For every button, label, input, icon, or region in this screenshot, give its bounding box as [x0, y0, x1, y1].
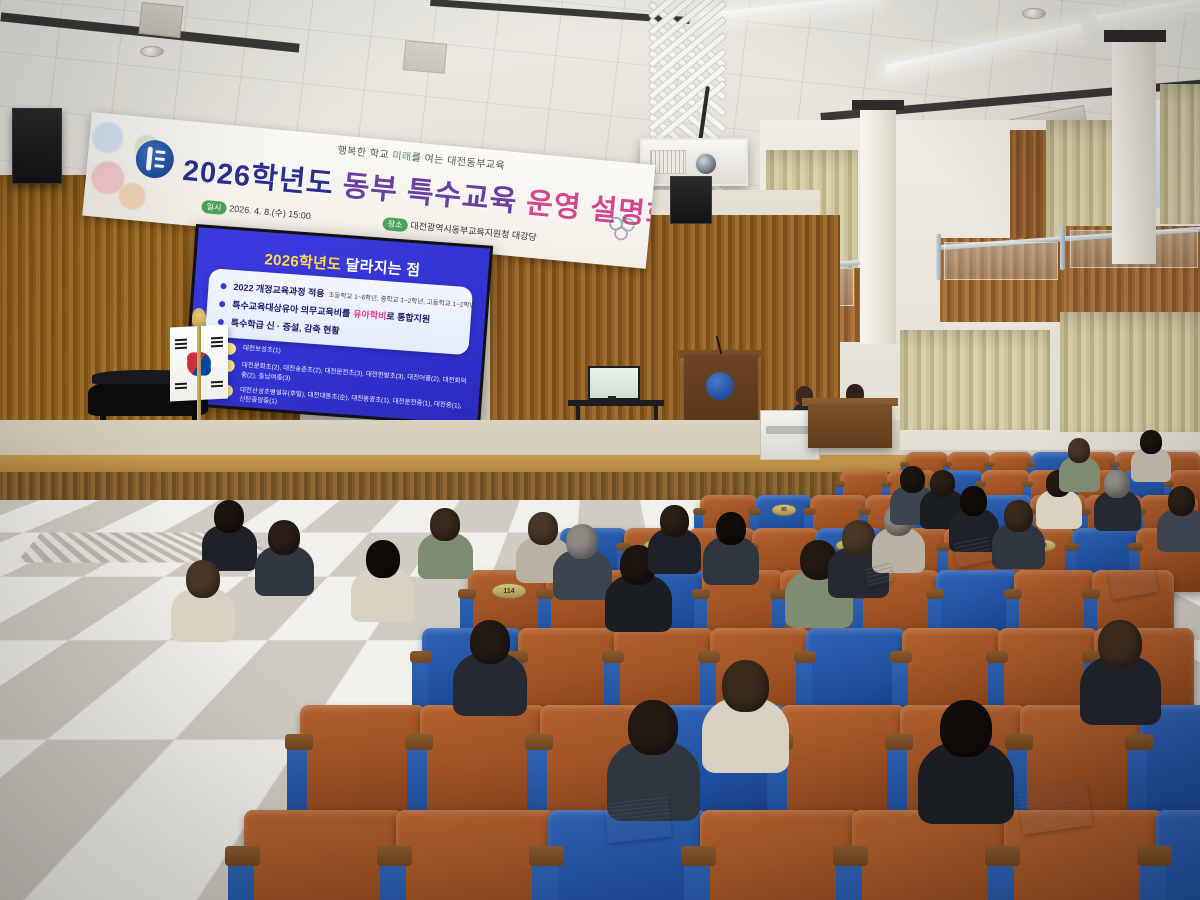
- seat-armrest: [692, 589, 710, 599]
- banner-title-subject: 동부 특수교육: [341, 170, 518, 218]
- bullet-1-main: 2022 개정교육과정 적용: [233, 280, 325, 300]
- attendee-head: [722, 660, 769, 712]
- banner-place-chip: 장소: [382, 217, 408, 232]
- bullet-3-main: 특수학급 신 · 증설, 감축 현황: [230, 316, 340, 337]
- bullet-dot-icon: [219, 300, 225, 306]
- bullet-2-post: 로 통합지원: [386, 309, 431, 325]
- podium-education-seal-icon: [706, 372, 734, 400]
- attendee-head: [900, 466, 925, 493]
- bullet-dot-icon: [220, 282, 226, 288]
- seat-armrest: [890, 651, 912, 663]
- seat-armrest: [314, 651, 336, 663]
- ceiling-vent-1: [138, 2, 183, 38]
- structural-column-right: [1112, 34, 1156, 264]
- white-tumbler: [140, 660, 158, 694]
- slide-title-year: 2026학년도: [264, 251, 342, 274]
- projection-screen: 2026학년도 달라지는 점 2022 개정교육과정 적용 초등학교 1~6학년…: [183, 224, 494, 427]
- seat-armrest: [1064, 543, 1079, 551]
- cart-slot: [766, 426, 812, 434]
- attendee-head: [1004, 500, 1033, 532]
- auditorium-seat[interactable]: [1156, 810, 1200, 900]
- ceiling-downlight-2: [1022, 8, 1046, 19]
- bullet-2-highlight: 유아학비: [353, 307, 387, 322]
- seat-armrest: [73, 846, 108, 866]
- seat-armrest: [942, 462, 952, 467]
- attendee-head: [186, 560, 220, 598]
- balcony-railing-post-1: [936, 234, 941, 280]
- seat-armrest: [748, 508, 761, 515]
- seat-armrest: [984, 462, 994, 467]
- mobile-lectern: [808, 404, 892, 448]
- monitor-screen: [590, 368, 638, 398]
- seat-armrest: [1082, 589, 1100, 599]
- seat-armrest: [1026, 462, 1036, 467]
- projector-scissor-lift: [648, 0, 734, 150]
- seat-armrest: [405, 734, 433, 750]
- attendee-head: [716, 512, 746, 545]
- seat-armrest: [1005, 734, 1033, 750]
- balcony-railing-post-2: [1060, 226, 1065, 270]
- attendee-head: [842, 520, 875, 556]
- structural-column-left: [860, 104, 896, 344]
- seat-armrest: [377, 846, 412, 866]
- attendee-head: [930, 470, 955, 497]
- lower-curtain-right: [1060, 312, 1200, 432]
- seat-armrest: [1128, 543, 1143, 551]
- auditorium-photo: 행복한 학교 미래를 여는 대전동부교육 2026학년도 동부 특수교육 운영 …: [0, 0, 1200, 900]
- banner-date-value: 2026. 4. 8.(수) 15:00: [229, 203, 311, 221]
- seat-armrest: [225, 846, 260, 866]
- seat-armrest: [833, 846, 868, 866]
- balcony-curtain-right: [1160, 84, 1200, 224]
- projector-lens: [694, 152, 718, 176]
- seat-armrest: [458, 589, 476, 599]
- banner-slogan-part2: 미래: [392, 150, 412, 163]
- olympic-rings-logo-icon: [604, 211, 641, 248]
- seat-armrest: [881, 481, 892, 487]
- slide-title-rest: 달라지는 점: [345, 257, 421, 279]
- attendee-head: [528, 512, 558, 545]
- ceiling-downlight-1: [140, 46, 164, 57]
- banner-title-year: 2026학년도: [181, 155, 335, 201]
- banner-date-chip: 일시: [201, 200, 227, 215]
- attendee-head: [660, 505, 689, 537]
- attendee-head: [470, 620, 510, 664]
- printed-handout: [604, 797, 672, 843]
- ceiling-vent-2: [403, 40, 447, 74]
- seat-armrest: [985, 846, 1020, 866]
- seat-armrest: [1110, 462, 1120, 467]
- seat-armrest: [698, 651, 720, 663]
- balcony-railing-glass-2: [944, 242, 1058, 280]
- flag-pole: [197, 318, 201, 436]
- attendee-head: [566, 524, 598, 559]
- seat-armrest: [858, 508, 871, 515]
- seat-armrest: [681, 846, 716, 866]
- attendee-head: [214, 500, 244, 533]
- confidence-monitor: [588, 366, 640, 400]
- attendee-head: [1168, 486, 1195, 516]
- banner-slogan-part1: 행복한 학교: [337, 145, 390, 161]
- seat-number-plate: 114: [492, 583, 527, 599]
- seat-armrest: [885, 734, 913, 750]
- row-text-new: 대전보성초(1): [243, 344, 281, 356]
- seat-armrest: [45, 734, 73, 750]
- seat-armrest: [1137, 846, 1172, 866]
- seat-armrest: [926, 589, 944, 599]
- banner-place-value: 대전광역시동부교육지원청 대강당: [410, 220, 537, 242]
- seat-armrest: [536, 589, 554, 599]
- stage-desk: [568, 400, 664, 406]
- attendee-head: [366, 540, 400, 578]
- banner-datetime: 일시2026. 4. 8.(수) 15:00: [201, 199, 311, 223]
- attendee-head: [1140, 430, 1162, 454]
- seat-armrest: [834, 481, 845, 487]
- seat-armrest: [165, 734, 193, 750]
- attendee-head: [1104, 470, 1130, 498]
- flag-finial: [192, 308, 206, 326]
- seat-armrest: [1022, 481, 1033, 487]
- line-array-speaker-right: [670, 176, 712, 224]
- attendee-head: [628, 700, 678, 755]
- line-array-speaker-left: [12, 108, 62, 184]
- seat-armrest: [218, 651, 240, 663]
- attendee-head: [268, 520, 300, 555]
- seat-armrest: [986, 651, 1008, 663]
- seat-armrest: [410, 651, 432, 663]
- attendee-head: [430, 508, 460, 541]
- seat-armrest: [602, 651, 624, 663]
- column-cap-right: [1104, 30, 1166, 42]
- attendee-head: [940, 700, 992, 757]
- seat-armrest: [285, 734, 313, 750]
- attendee-head: [960, 486, 987, 516]
- column-cap-left: [852, 100, 904, 110]
- lower-curtain-mid: [900, 330, 1050, 430]
- projector-vent-grill: [650, 150, 686, 174]
- seat-armrest: [693, 508, 706, 515]
- seat-armrest: [1125, 734, 1153, 750]
- seat-number-plate: 85: [772, 504, 797, 516]
- seat-armrest: [525, 734, 553, 750]
- presentation-slide: 2026학년도 달라지는 점 2022 개정교육과정 적용 초등학교 1~6학년…: [186, 227, 490, 424]
- attendee-head: [1098, 620, 1142, 668]
- seat-armrest: [529, 846, 564, 866]
- seat-armrest: [794, 651, 816, 663]
- attendee-head: [1068, 438, 1090, 463]
- seat-armrest: [1004, 589, 1022, 599]
- seat-armrest: [803, 508, 816, 515]
